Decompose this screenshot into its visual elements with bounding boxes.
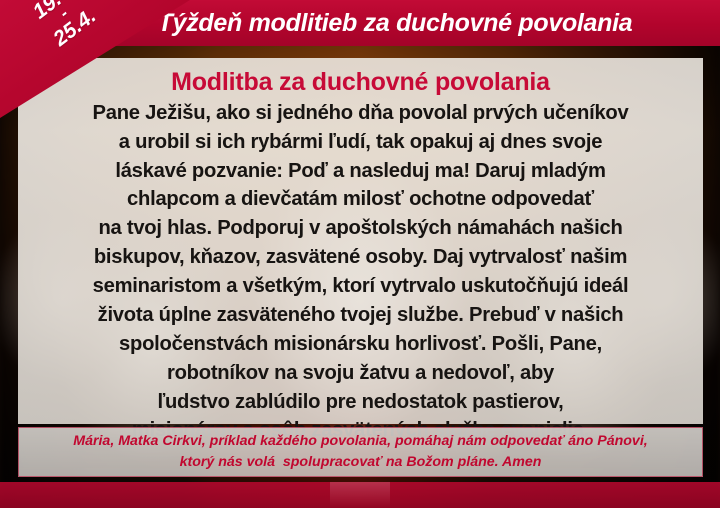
prayer-line: Pane Ježišu, ako si jedného dňa povolal … <box>24 99 697 128</box>
prayer-subtitle: Modlitba za duchovné povolania <box>18 68 703 97</box>
prayer-line: spoločenstvách misionársku horlivosť. Po… <box>24 330 697 359</box>
prayer-panel: Modlitba za duchovné povolania Pane Ježi… <box>18 58 703 424</box>
prayer-line: ľudstvo zablúdilo pre nedostatok pastier… <box>24 388 697 417</box>
prayer-line: biskupov, kňazov, zasvätené osoby. Daj v… <box>24 243 697 272</box>
prayer-line: života úplne zasväteného tvojej službe. … <box>24 301 697 330</box>
prayer-line: láskavé pozvanie: Poď a nasleduj ma! Dar… <box>24 157 697 186</box>
bottom-red-strip <box>0 482 720 508</box>
prayer-line: robotníkov na svoju žatvu a nedovoľ, aby <box>24 359 697 388</box>
footer-line: Mária, Matka Cirkvi, príklad každého pov… <box>73 431 647 452</box>
footer-line: ktorý nás volá spolupracovať na Božom pl… <box>180 452 542 473</box>
prayer-line: na tvoj hlas. Podporuj v apoštolských ná… <box>24 214 697 243</box>
prayer-week-poster: Týždeň modlitieb za duchovné povolania 1… <box>0 0 720 508</box>
marian-invocation-band: Mária, Matka Cirkvi, príklad každého pov… <box>18 427 703 477</box>
prayer-text: Pane Ježišu, ako si jedného dňa povolal … <box>18 99 703 446</box>
prayer-line: chlapcom a dievčatám milosť ochotne odpo… <box>24 185 697 214</box>
prayer-line: a urobil si ich rybármi ľudí, tak opakuj… <box>24 128 697 157</box>
prayer-line: seminaristom a všetkým, ktorí vytrvalo u… <box>24 272 697 301</box>
